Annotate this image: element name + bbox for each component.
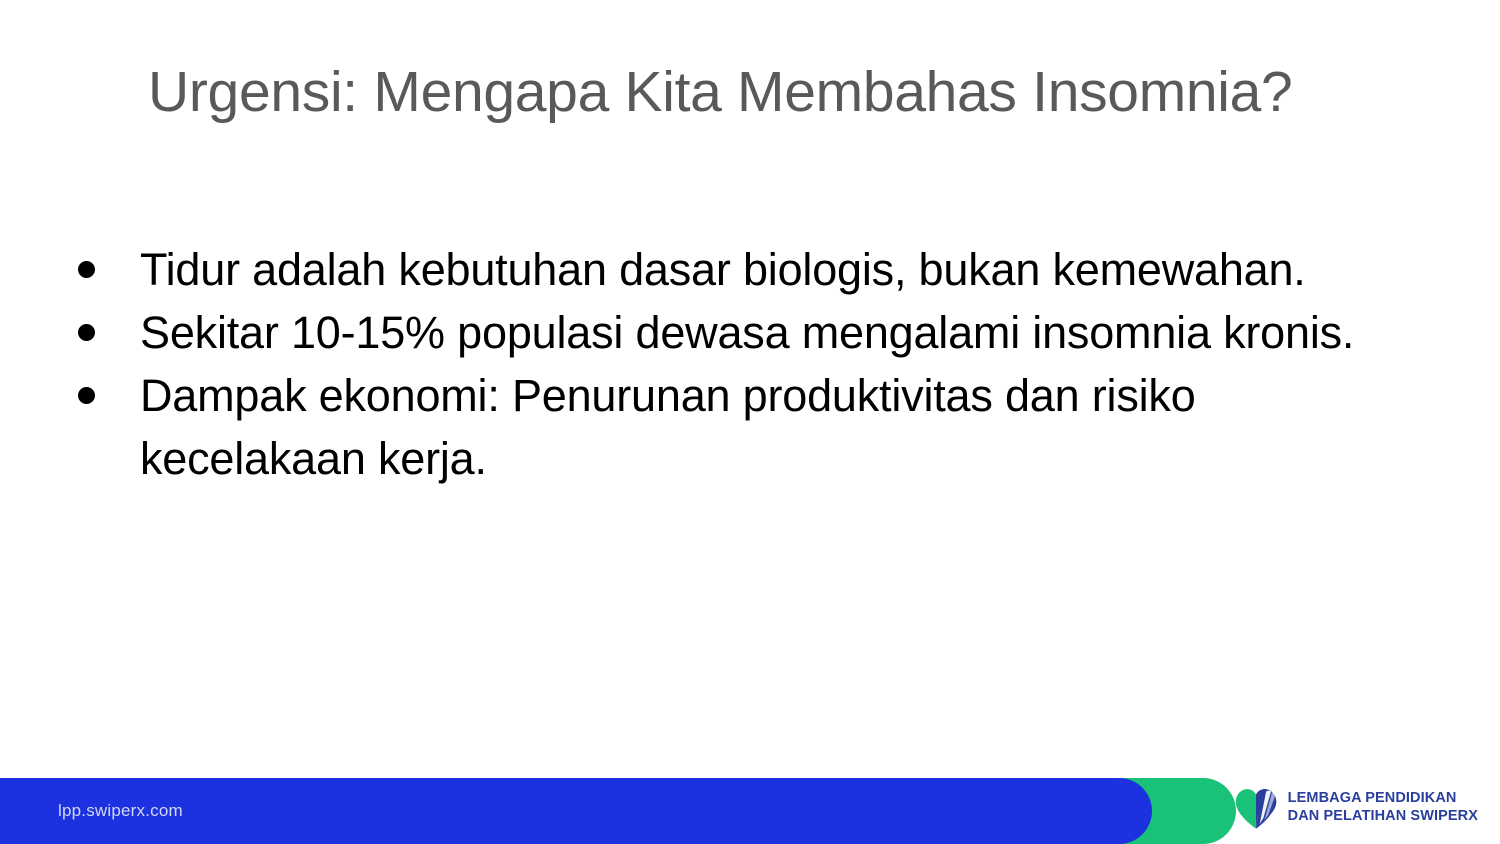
bullet-text: Tidur adalah kebutuhan dasar biologis, b… bbox=[140, 238, 1432, 301]
list-item: Tidur adalah kebutuhan dasar biologis, b… bbox=[62, 238, 1432, 301]
logo-line-2: DAN PELATIHAN SWIPERX bbox=[1288, 808, 1478, 826]
bullet-text: Sekitar 10-15% populasi dewasa mengalami… bbox=[140, 301, 1432, 364]
bullet-point-icon bbox=[78, 387, 95, 404]
bullet-list: Tidur adalah kebutuhan dasar biologis, b… bbox=[62, 238, 1432, 490]
bullet-point-icon bbox=[78, 261, 95, 278]
logo-line-1: LEMBAGA PENDIDIKAN bbox=[1288, 790, 1478, 808]
slide-title: Urgensi: Mengapa Kita Membahas Insomnia? bbox=[148, 60, 1378, 126]
footer-url-text: lpp.swiperx.com bbox=[58, 778, 183, 844]
list-item: Dampak ekonomi: Penurunan produktivitas … bbox=[62, 364, 1432, 490]
presentation-slide: Urgensi: Mengapa Kita Membahas Insomnia?… bbox=[0, 0, 1500, 844]
logo-lockup: LEMBAGA PENDIDIKAN DAN PELATIHAN SWIPERX bbox=[1233, 780, 1478, 836]
logo-wordmark: LEMBAGA PENDIDIKAN DAN PELATIHAN SWIPERX bbox=[1288, 790, 1478, 825]
bullet-point-icon bbox=[78, 324, 95, 341]
list-item: Sekitar 10-15% populasi dewasa mengalami… bbox=[62, 301, 1432, 364]
heart-logo-icon bbox=[1233, 785, 1279, 831]
bullet-text: Dampak ekonomi: Penurunan produktivitas … bbox=[140, 364, 1432, 490]
